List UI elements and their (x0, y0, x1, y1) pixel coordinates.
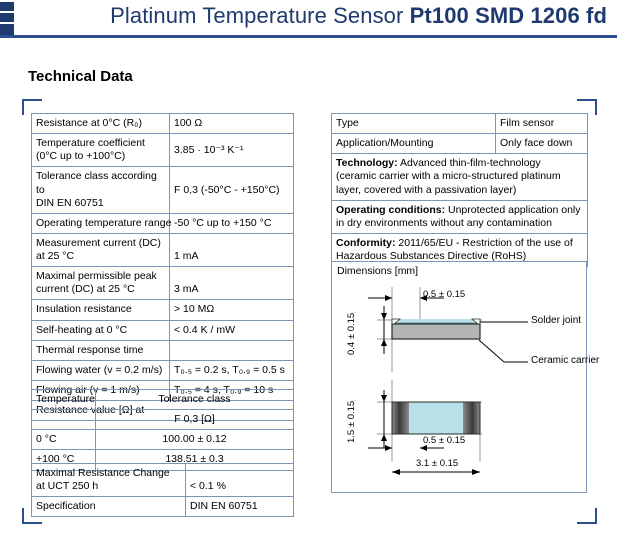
table-row: Resistance at 0°C (R₀) 100 Ω (32, 114, 294, 134)
technology-cell: Technology: Advanced thin-film-technolog… (332, 154, 588, 200)
measurement-current-label-line2: at 25 °C (36, 250, 165, 263)
tolerance-class-label-line1: Tolerance class according to (36, 170, 165, 196)
table-row: Operating temperature range -50 °C up to… (32, 213, 294, 233)
solder-joint-label: Solder joint (531, 315, 581, 326)
max-resistance-change-line2: at UCT 250 h (36, 480, 181, 493)
measurement-current-label-line1: Measurement current (DC) (36, 237, 165, 250)
page-header: Platinum Temperature Sensor Pt100 SMD 12… (0, 0, 617, 40)
operating-range-value: -50 °C up to +150 °C (170, 213, 294, 233)
thermal-response-label: Thermal response time (32, 340, 170, 360)
side-view-height-label: 0.4 ± 0.15 (346, 313, 357, 355)
insulation-resistance-value: > 10 MΩ (170, 300, 294, 320)
resistance-value-0c: 100.00 ± 0.12 (96, 430, 294, 450)
type-label: Type (332, 114, 496, 134)
table-row: Operating conditions: Unprotected applic… (332, 200, 588, 233)
peak-current-label-line1: Maximal permissible peak (36, 270, 165, 283)
operating-range-label: Operating temperature range (32, 213, 170, 233)
conformity-label: Conformity: (336, 237, 396, 249)
flowing-water-label: Flowing water (v = 0.2 m/s) (32, 360, 170, 380)
table-row: Tolerance class according to DIN EN 6075… (32, 167, 294, 213)
corner-bracket-bottom-right (577, 508, 597, 524)
table-row: Maximal Resistance Change at UCT 250 h <… (32, 464, 294, 497)
specification-value: DIN EN 60751 (186, 497, 294, 517)
table-row: Temperature coefficient (0°C up to +100°… (32, 134, 294, 167)
table-row: Measurement current (DC) at 25 °C 1 mA (32, 233, 294, 266)
peak-current-label-line2: current (DC) at 25 °C (36, 283, 165, 296)
table-row: Thermal response time (32, 340, 294, 360)
insulation-resistance-label: Insulation resistance (32, 300, 170, 320)
table-row: Technology: Advanced thin-film-technolog… (332, 154, 588, 200)
specification-label: Specification (32, 497, 186, 517)
table-row: Maximal permissible peak current (DC) at… (32, 267, 294, 300)
application-value: Only face down (496, 134, 588, 154)
top-view-height-label: 1.5 ± 0.15 (346, 401, 357, 443)
tolerance-class-value: F 0,3 (-50°C - +150°C) (170, 167, 294, 213)
table-row: Specification DIN EN 60751 (32, 497, 294, 517)
tolerance-class-label: Tolerance class according to DIN EN 6075… (32, 167, 170, 213)
table-row: Self-heating at 0 °C < 0.4 K / mW (32, 320, 294, 340)
resistance-label: Resistance at 0°C (R₀) (32, 114, 170, 134)
table-row: Application/Mounting Only face down (332, 134, 588, 154)
top-view-pad-label: 0.5 ± 0.15 (423, 435, 465, 446)
resistance-temp-0c: 0 °C (32, 430, 96, 450)
peak-current-value: 3 mA (170, 267, 294, 300)
tempco-label: Temperature coefficient (0°C up to +100°… (32, 134, 170, 167)
max-resistance-change-label: Maximal Resistance Change at UCT 250 h (32, 464, 186, 497)
table-row: Flowing water (v = 0.2 m/s) T₀.₅ = 0.2 s… (32, 360, 294, 380)
max-resistance-change-line1: Maximal Resistance Change (36, 467, 181, 480)
top-view-length-label: 3.1 ± 0.15 (416, 458, 458, 469)
resistance-value-table: Temperature Tolerance class F 0,3 [Ω] 0 … (31, 389, 294, 471)
self-heating-label: Self-heating at 0 °C (32, 320, 170, 340)
application-label: Application/Mounting (332, 134, 496, 154)
peak-current-label: Maximal permissible peak current (DC) at… (32, 267, 170, 300)
thermal-response-value (170, 340, 294, 360)
page-title-regular: Platinum Temperature Sensor (110, 3, 410, 28)
temperature-header: Temperature (32, 390, 96, 410)
table-row: F 0,3 [Ω] (32, 410, 294, 430)
page-title-bold: Pt100 SMD 1206 fd (410, 3, 607, 28)
tempco-value: 3.85 · 10⁻³ K⁻¹ (170, 134, 294, 167)
header-rule (0, 35, 617, 38)
right-spec-table: Type Film sensor Application/Mounting On… (331, 113, 588, 267)
tolerance-class-sub: F 0,3 [Ω] (96, 410, 294, 430)
page-title: Platinum Temperature Sensor Pt100 SMD 12… (0, 3, 607, 29)
table-row: Temperature Tolerance class (32, 390, 294, 410)
flowing-water-value: T₀.₅ = 0.2 s, T₀.₉ = 0.5 s (170, 360, 294, 380)
self-heating-value: < 0.4 K / mW (170, 320, 294, 340)
side-view-width-label: 0.5 ± 0.15 (423, 289, 465, 300)
tolerance-class-label-line2: DIN EN 60751 (36, 197, 165, 210)
stability-table: Maximal Resistance Change at UCT 250 h <… (31, 463, 294, 517)
temperature-blank (32, 410, 96, 430)
tempco-label-line2: (0°C up to +100°C) (36, 150, 165, 163)
tempco-label-line1: Temperature coefficient (36, 137, 165, 150)
technology-label: Technology: (336, 157, 398, 169)
operating-conditions-cell: Operating conditions: Unprotected applic… (332, 200, 588, 233)
resistance-value: 100 Ω (170, 114, 294, 134)
left-spec-table: Resistance at 0°C (R₀) 100 Ω Temperature… (31, 113, 294, 421)
tolerance-class-header: Tolerance class (96, 390, 294, 410)
section-heading: Technical Data (28, 68, 133, 85)
dimensions-panel: Dimensions [mm] (331, 261, 587, 493)
ceramic-carrier-label: Ceramic carrier (531, 355, 599, 366)
table-row: 0 °C 100.00 ± 0.12 (32, 430, 294, 450)
measurement-current-label: Measurement current (DC) at 25 °C (32, 233, 170, 266)
type-value: Film sensor (496, 114, 588, 134)
measurement-current-value: 1 mA (170, 233, 294, 266)
table-row: Insulation resistance > 10 MΩ (32, 300, 294, 320)
table-row: Type Film sensor (332, 114, 588, 134)
max-resistance-change-value: < 0.1 % (186, 464, 294, 497)
operating-conditions-label: Operating conditions: (336, 204, 445, 216)
